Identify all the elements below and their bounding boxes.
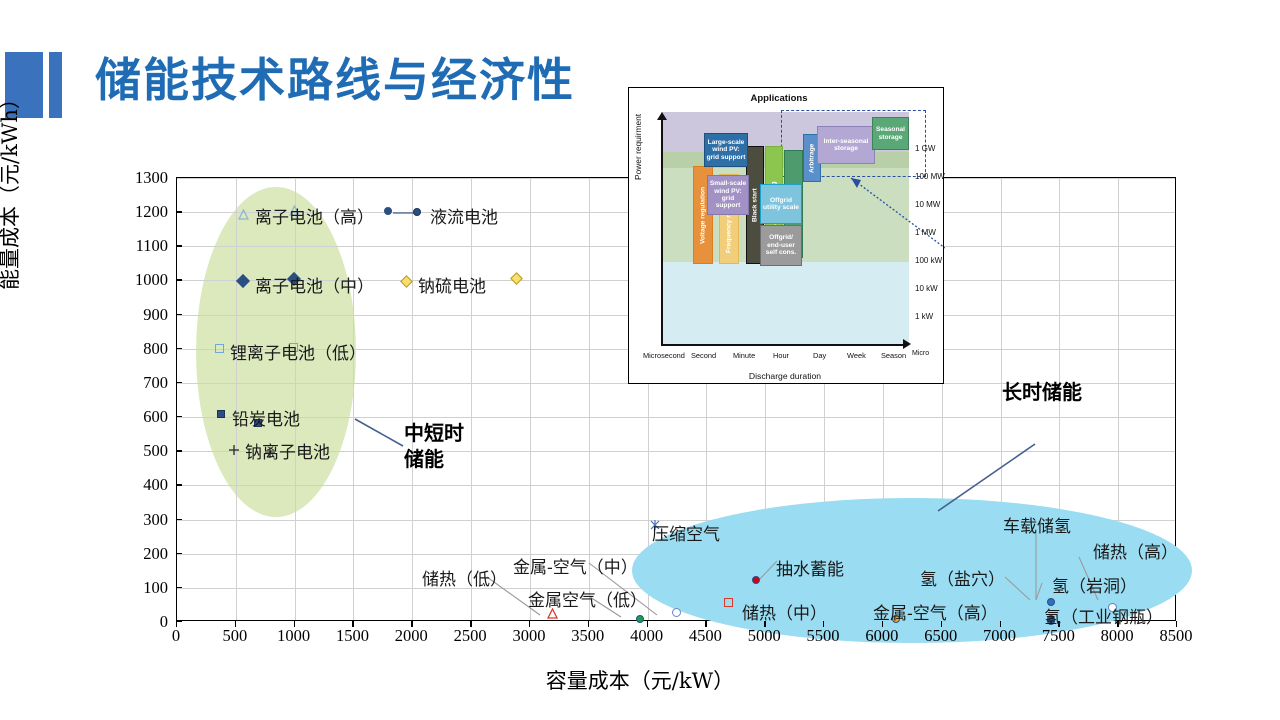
y-tick-label: 600	[110, 407, 168, 427]
title-accent-bar-narrow	[49, 52, 62, 118]
page-title: 储能技术路线与经济性	[95, 44, 575, 110]
gridline	[353, 178, 354, 620]
embedded-right-edge-label: Micro	[912, 350, 929, 357]
embedded-power-label: 10 kW	[915, 284, 938, 293]
y-tick-label: 1100	[110, 236, 168, 256]
y-tick-label: 700	[110, 373, 168, 393]
embedded-power-label: 100 MW	[915, 172, 945, 181]
gridline	[177, 417, 1175, 418]
label-pumped-hydro: 抽水蓄能	[776, 555, 844, 580]
embedded-applications-figure: Applications Voltage regulation Frequenc…	[628, 87, 944, 384]
label-ion-battery-mid: 离子电池（中）	[255, 272, 374, 297]
y-tick-mark	[176, 587, 182, 588]
label-compressed-air: 压缩空气	[652, 520, 720, 545]
marker-square-open	[724, 598, 733, 607]
y-tick-label: 1200	[110, 202, 168, 222]
label-hydrogen-rock-cavern: 氢（岩洞）	[1052, 572, 1137, 597]
embedded-duration-label: Day	[813, 351, 826, 360]
label-sodium-sulfur-battery: 钠硫电池	[418, 272, 486, 297]
embedded-duration-label: Microsecond	[643, 351, 685, 360]
y-tick-label: 1000	[110, 270, 168, 290]
embedded-x-axis-label: Discharge duration	[665, 371, 905, 381]
y-tick-label: 400	[110, 475, 168, 495]
y-tick-mark	[176, 519, 182, 520]
gridline	[236, 178, 237, 620]
embedded-power-label: 10 MW	[915, 200, 940, 209]
x-tick-label: 2000	[381, 626, 441, 646]
label-thermal-mid: 储热（中）	[742, 599, 827, 624]
marker-circle-filled	[636, 615, 644, 623]
embedded-duration-label: Season	[881, 351, 906, 360]
annotation-long-duration: 长时储能	[1002, 381, 1082, 404]
y-tick-mark	[176, 348, 182, 349]
y-tick-mark	[176, 382, 182, 383]
marker-circle-filled	[752, 576, 760, 584]
label-lead-carbon-battery: 铅炭电池	[232, 405, 300, 430]
y-tick-mark	[176, 484, 182, 485]
annotation-short-duration-line1: 中短时	[404, 422, 464, 445]
y-tick-mark	[176, 177, 182, 178]
x-tick-label: 8500	[1146, 626, 1206, 646]
y-tick-mark	[176, 450, 182, 451]
marker-circle-open	[672, 608, 681, 617]
x-tick-label: 4000	[617, 626, 677, 646]
x-tick-label: 2500	[440, 626, 500, 646]
y-axis-title: 能量成本（元/kWh）	[0, 88, 24, 290]
legend-marker-flow-battery	[413, 208, 421, 216]
embedded-power-label: 100 kW	[915, 256, 942, 265]
embedded-leader-arrow	[629, 88, 945, 385]
label-flow-battery: 液流电池	[430, 203, 498, 228]
y-tick-mark	[176, 553, 182, 554]
y-tick-label: 800	[110, 339, 168, 359]
y-tick-mark	[176, 279, 182, 280]
label-thermal-low: 储热（低）	[422, 565, 507, 590]
label-hydrogen-salt-cavern: 氢（盐穴）	[920, 565, 1005, 590]
y-tick-label: 300	[110, 510, 168, 530]
embedded-power-label: 1 MW	[915, 228, 936, 237]
x-tick-label: 1000	[264, 626, 324, 646]
embedded-duration-label: Hour	[773, 351, 789, 360]
gridline	[177, 485, 1175, 486]
y-tick-mark	[176, 245, 182, 246]
x-tick-label: 3500	[558, 626, 618, 646]
x-tick-label: 6000	[852, 626, 912, 646]
y-tick-label: 500	[110, 441, 168, 461]
x-tick-label: 7000	[970, 626, 1030, 646]
x-tick-label: 4500	[675, 626, 735, 646]
embedded-power-label: 1 GW	[915, 144, 935, 153]
embedded-duration-label: Week	[847, 351, 866, 360]
gridline	[412, 178, 413, 620]
x-tick-label: 1500	[322, 626, 382, 646]
x-axis-title: 容量成本（元/kW）	[0, 665, 1280, 695]
marker-circle-filled	[384, 207, 392, 215]
label-metal-air-low: 金属空气（低）	[528, 586, 647, 611]
embedded-power-label: 1 kW	[915, 312, 933, 321]
x-tick-label: 0	[146, 626, 206, 646]
x-tick-label: 5000	[734, 626, 794, 646]
embedded-y-axis-label: Power requirment	[633, 114, 643, 180]
legend-marker-lead-carbon	[217, 410, 225, 418]
label-ion-battery-high: 离子电池（高）	[255, 203, 374, 228]
y-tick-label: 100	[110, 578, 168, 598]
embedded-duration-label: Minute	[733, 351, 755, 360]
label-vehicle-hydrogen: 车载储氢	[1003, 512, 1071, 537]
x-tick-label: 7500	[1028, 626, 1088, 646]
legend-marker-lithium-ion-low	[215, 344, 224, 353]
label-lithium-ion-low: 锂离子电池（低）	[230, 339, 366, 364]
y-tick-label: 1300	[110, 168, 168, 188]
label-sodium-ion-battery: 钠离子电池	[245, 438, 330, 463]
gridline	[471, 178, 472, 620]
y-tick-label: 900	[110, 305, 168, 325]
y-tick-mark	[176, 211, 182, 212]
label-thermal-high: 储热（高）	[1093, 538, 1178, 563]
x-tick-label: 5500	[793, 626, 853, 646]
legend-marker-ion-battery-high	[238, 207, 249, 218]
x-tick-label: 6500	[911, 626, 971, 646]
annotation-short-duration-line2: 储能	[404, 448, 444, 471]
x-tick-label: 500	[205, 626, 265, 646]
legend-marker-sodium-ion	[229, 442, 239, 452]
x-tick-label: 3000	[499, 626, 559, 646]
label-hydrogen-cylinder: 氢（工业钢瓶）	[1044, 603, 1163, 628]
y-tick-mark	[176, 314, 182, 315]
y-tick-label: 200	[110, 544, 168, 564]
y-tick-mark	[176, 416, 182, 417]
x-tick-label: 8000	[1087, 626, 1147, 646]
label-metal-air-high: 金属-空气（高）	[873, 599, 998, 624]
gridline	[295, 178, 296, 620]
embedded-duration-label: Second	[691, 351, 716, 360]
label-metal-air-mid: 金属-空气（中）	[513, 553, 638, 578]
